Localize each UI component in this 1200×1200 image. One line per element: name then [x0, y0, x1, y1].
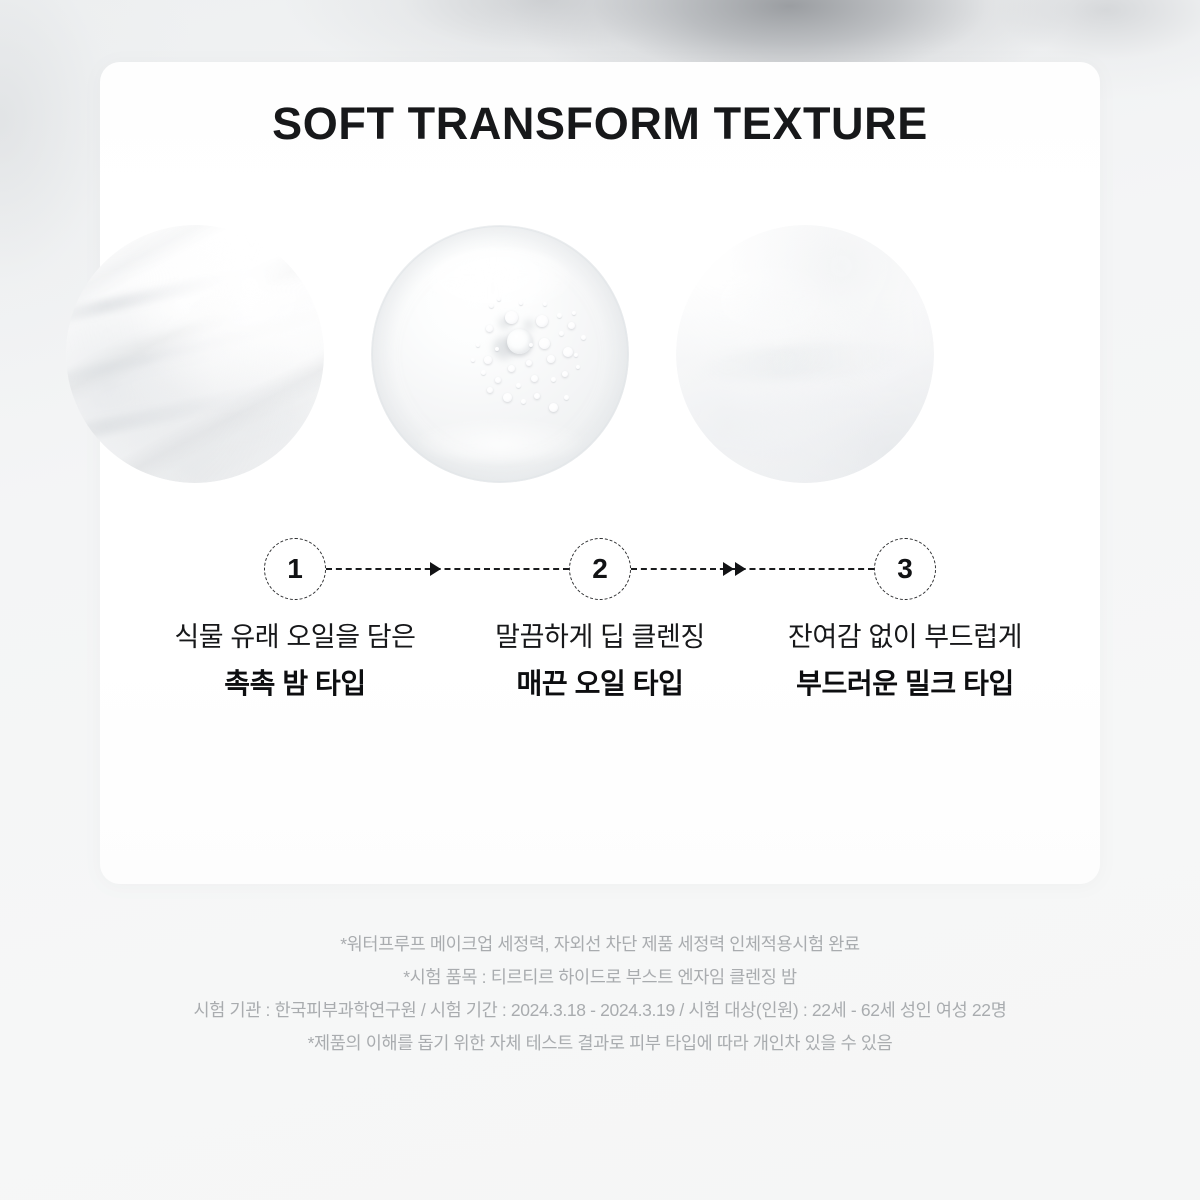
step-number-badge-2: 2 [569, 538, 631, 600]
step-caption-2-line1: 말끔하게 딥 클렌징 [440, 620, 760, 654]
arrow-head-icon [723, 562, 734, 576]
oil-bubble-cluster [371, 225, 629, 483]
balm-texture-swatch [66, 225, 324, 483]
step-caption-1: 식물 유래 오일을 담은 촉촉 밤 타입 [135, 620, 455, 701]
step-caption-3-line2: 부드러운 밀크 타입 [745, 666, 1065, 701]
texture-swatch-row [0, 225, 1200, 487]
connector-2-to-3 [631, 568, 874, 570]
footnote-line: *제품의 이해를 돕기 위한 자체 테스트 결과로 피부 타입에 따라 개인차 … [0, 1027, 1200, 1060]
arrow-head-icon [735, 562, 746, 576]
footnotes: *워터프루프 메이크업 세정력, 자외선 차단 제품 세정력 인체적용시험 완료… [0, 928, 1200, 1060]
milk-texture-swatch [676, 225, 934, 483]
dashed-line [326, 568, 569, 570]
page-title: SOFT TRANSFORM TEXTURE [0, 98, 1200, 150]
milk-shading [676, 225, 934, 483]
step-caption-1-line2: 촉촉 밤 타입 [135, 666, 455, 701]
step-caption-2-line2: 매끈 오일 타입 [440, 666, 760, 701]
step-caption-3: 잔여감 없이 부드럽게 부드러운 밀크 타입 [745, 620, 1065, 701]
oil-texture-swatch [371, 225, 629, 483]
step-number-badge-1: 1 [264, 538, 326, 600]
step-flow: 1 2 3 [0, 538, 1200, 604]
step-number-badge-3: 3 [874, 538, 936, 600]
footnote-line: 시험 기관 : 한국피부과학연구원 / 시험 기간 : 2024.3.18 - … [0, 994, 1200, 1027]
connector-1-to-2 [326, 568, 569, 570]
step-caption-3-line1: 잔여감 없이 부드럽게 [745, 620, 1065, 654]
dashed-line [631, 568, 874, 570]
footnote-line: *워터프루프 메이크업 세정력, 자외선 차단 제품 세정력 인체적용시험 완료 [0, 928, 1200, 961]
product-detail-page: SOFT TRANSFORM TEXTURE [0, 0, 1200, 1200]
arrow-head-icon [430, 562, 441, 576]
step-caption-1-line1: 식물 유래 오일을 담은 [135, 620, 455, 654]
step-caption-2: 말끔하게 딥 클렌징 매끈 오일 타입 [440, 620, 760, 701]
footnote-line: *시험 품목 : 티르티르 하이드로 부스트 엔자임 클렌징 밤 [0, 961, 1200, 994]
balm-shading [66, 225, 324, 483]
